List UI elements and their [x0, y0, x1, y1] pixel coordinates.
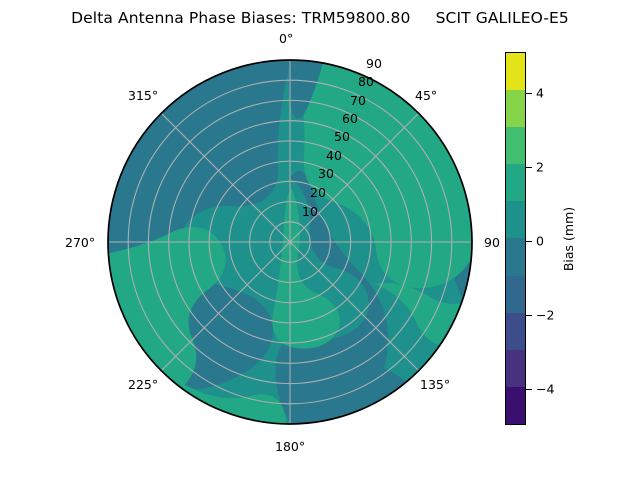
colorbar-band-9	[506, 53, 525, 90]
r-label-30: 30	[318, 166, 334, 181]
angular-grid	[108, 60, 472, 424]
theta-label-90: 90	[484, 235, 500, 250]
polar-plot-svg	[106, 58, 474, 426]
colorbar-band-7	[506, 127, 525, 164]
theta-label-0: 0°	[279, 31, 293, 46]
colorbar-tickmark-0	[526, 241, 532, 242]
colorbar-tickmark-4	[526, 93, 532, 94]
r-label-60: 60	[342, 111, 358, 126]
figure-title: Delta Antenna Phase Biases: TRM59800.80 …	[0, 9, 640, 27]
colorbar-band-8	[506, 90, 525, 127]
theta-label-180: 180°	[275, 439, 305, 454]
colorbar-axis-label: Bias (mm)	[561, 207, 576, 271]
polar-axes	[106, 58, 474, 426]
r-label-10: 10	[302, 204, 318, 219]
colorbar-ticklabel-4: 4	[536, 86, 544, 101]
theta-label-315: 315°	[128, 88, 158, 103]
figure-canvas: Delta Antenna Phase Biases: TRM59800.80 …	[0, 0, 640, 480]
colorbar	[505, 52, 526, 425]
r-label-70: 70	[350, 93, 366, 108]
colorbar-ticklabel-2: 2	[536, 160, 544, 175]
theta-label-225: 225°	[128, 377, 158, 392]
colorbar-band-0	[506, 387, 525, 424]
colorbar-band-5	[506, 201, 525, 238]
colorbar-tickmark-m2	[526, 315, 532, 316]
colorbar-band-3	[506, 276, 525, 313]
colorbar-band-2	[506, 313, 525, 350]
r-label-80: 80	[358, 74, 374, 89]
theta-label-270: 270°	[65, 235, 95, 250]
r-label-90: 90	[366, 56, 382, 71]
r-label-20: 20	[310, 185, 326, 200]
colorbar-ticklabel-m2: −2	[536, 308, 554, 323]
colorbar-ticklabel-0: 0	[536, 234, 544, 249]
colorbar-tickmark-m4	[526, 389, 532, 390]
colorbar-band-6	[506, 164, 525, 201]
colorbar-band-4	[506, 238, 525, 275]
colorbar-tickmark-2	[526, 167, 532, 168]
r-label-50: 50	[334, 129, 350, 144]
r-label-40: 40	[326, 148, 342, 163]
colorbar-ticklabel-m4: −4	[536, 382, 554, 397]
theta-label-45: 45°	[415, 88, 437, 103]
colorbar-band-1	[506, 350, 525, 387]
theta-label-135: 135°	[420, 377, 450, 392]
